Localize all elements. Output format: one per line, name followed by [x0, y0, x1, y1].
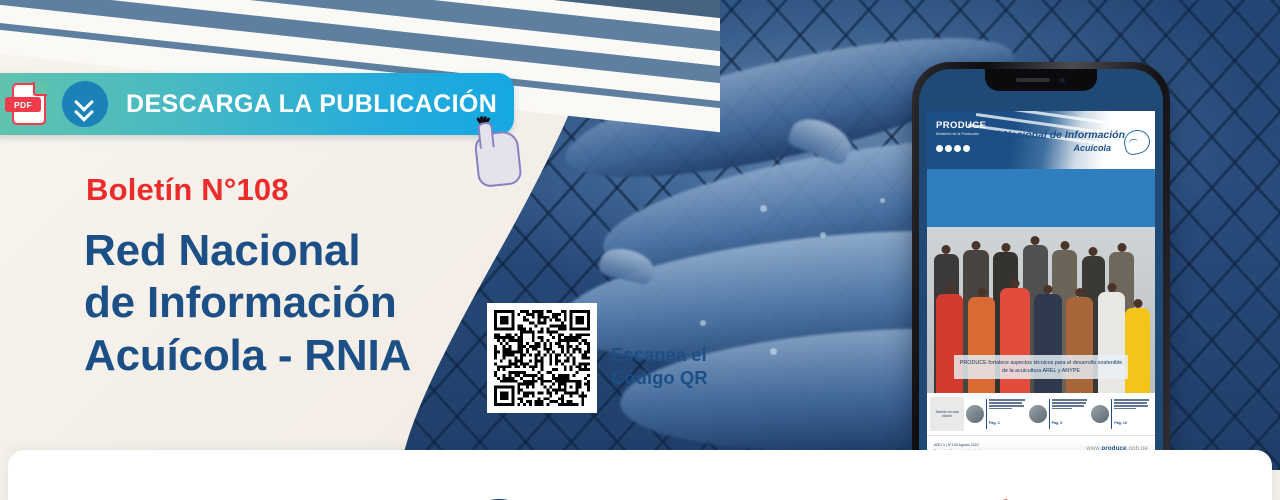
pdf-file-icon: PDF [12, 83, 46, 125]
person-head [972, 241, 981, 250]
produce-logo: PRODUCE Ministerio de la Producción [936, 120, 986, 136]
person-head [1075, 288, 1084, 297]
page-title: Red Nacional de Información Acuícola - R… [84, 225, 411, 382]
produce-subtitle: Ministerio de la Producción [936, 132, 986, 136]
swoosh-logo [456, 494, 510, 500]
article-item[interactable]: Pág. 5 [1029, 399, 1090, 429]
banner-stage: PDF DESCARGA LA PUBLICACIÓN Boletín N°10… [0, 0, 1280, 500]
qr-label: Escanea el Código QR [611, 343, 708, 390]
bulletin-number: Boletín N°108 [86, 172, 289, 208]
title-line-2: de Información [84, 277, 411, 329]
cover-articles-strip: También en esta edición Pág. 3 Pá [927, 393, 1155, 435]
phone-screen: PRODUCE Ministerio de la Producción Red … [919, 69, 1163, 485]
click-hand-cursor-icon [468, 118, 530, 186]
download-publication-button[interactable]: PDF DESCARGA LA PUBLICACIÓN [0, 73, 514, 135]
cover-title-italic: Acuícola [980, 143, 1111, 153]
fish-speckle [880, 198, 885, 203]
cover-title-main: Red Nacional de Información [980, 129, 1125, 141]
article-lines: Pág. 10 [1111, 399, 1152, 429]
article-thumbnail [1091, 405, 1109, 423]
article-thumbnail [966, 405, 984, 423]
title-line-3: Acuícola - RNIA [84, 330, 411, 382]
title-line-1: Red Nacional [84, 225, 411, 277]
publication-cover[interactable]: PRODUCE Ministerio de la Producción Red … [927, 111, 1155, 461]
pdf-badge-label: PDF [5, 97, 41, 112]
person-head [1133, 299, 1142, 308]
facebook-icon [936, 145, 943, 152]
article-lines: Pág. 5 [1049, 399, 1090, 429]
social-icons [936, 145, 970, 152]
cover-group-photo: PRODUCE fortalece aspectos técnicos para… [927, 169, 1155, 393]
qr-label-line-1: Escanea el [611, 343, 708, 366]
download-button-label: DESCARGA LA PUBLICACIÓN [126, 90, 497, 119]
person-head [1043, 285, 1052, 294]
double-chevron-down-icon[interactable] [62, 81, 108, 127]
pdf-fold [33, 82, 47, 96]
person-head [942, 245, 951, 254]
fish-speckle [770, 348, 777, 355]
instagram-icon [954, 145, 961, 152]
twitter-icon [945, 145, 952, 152]
chevron-2 [77, 105, 94, 114]
qr-code-icon[interactable] [487, 303, 597, 413]
cover-header: PRODUCE Ministerio de la Producción Red … [927, 111, 1155, 169]
person-head [1060, 241, 1069, 250]
article-item[interactable]: Pág. 10 [1091, 399, 1152, 429]
person-head [1089, 247, 1098, 256]
person-head [1001, 243, 1010, 252]
cover-photo-caption: PRODUCE fortalece aspectos técnicos para… [954, 355, 1127, 379]
person-head [945, 285, 954, 294]
person-head [1031, 236, 1040, 245]
cover-issue-line: AÑO 3 | N°108 Agosto 2022 [934, 443, 986, 448]
chip-label: También en esta edición [932, 410, 962, 419]
person-figure [1125, 308, 1150, 393]
fish-speckle [760, 205, 767, 212]
qr-label-line-2: Código QR [611, 366, 708, 389]
fish-speckle [820, 232, 826, 238]
smartphone-mockup: PRODUCE Ministerio de la Producción Red … [912, 62, 1170, 492]
article-page: Pág. 3 [989, 421, 1000, 425]
youtube-icon [963, 145, 970, 152]
fish-speckle [700, 320, 706, 326]
produce-wordmark: PRODUCE [936, 120, 986, 131]
article-page: Pág. 5 [1052, 421, 1063, 425]
cover-title: Red Nacional de Información Acuícola [980, 129, 1125, 153]
person-head [977, 288, 986, 297]
article-item[interactable]: Pág. 3 [966, 399, 1027, 429]
hand-shape [473, 130, 522, 188]
logo-row: Con [8, 476, 1272, 500]
person-head [1117, 243, 1126, 252]
article-thumbnail [1029, 405, 1047, 423]
person-head [1010, 279, 1019, 288]
red-rays-logo [968, 494, 1046, 500]
article-lines: Pág. 3 [986, 399, 1027, 429]
camera-icon [1059, 77, 1066, 84]
qr-canvas [494, 310, 590, 406]
article-page: Pág. 10 [1114, 421, 1127, 425]
person-head [1107, 283, 1116, 292]
phone-notch [985, 69, 1097, 91]
bottom-logo-panel: Con [8, 450, 1272, 500]
speaker-icon [1016, 78, 1050, 82]
also-in-this-edition-chip: También en esta edición [930, 397, 964, 431]
